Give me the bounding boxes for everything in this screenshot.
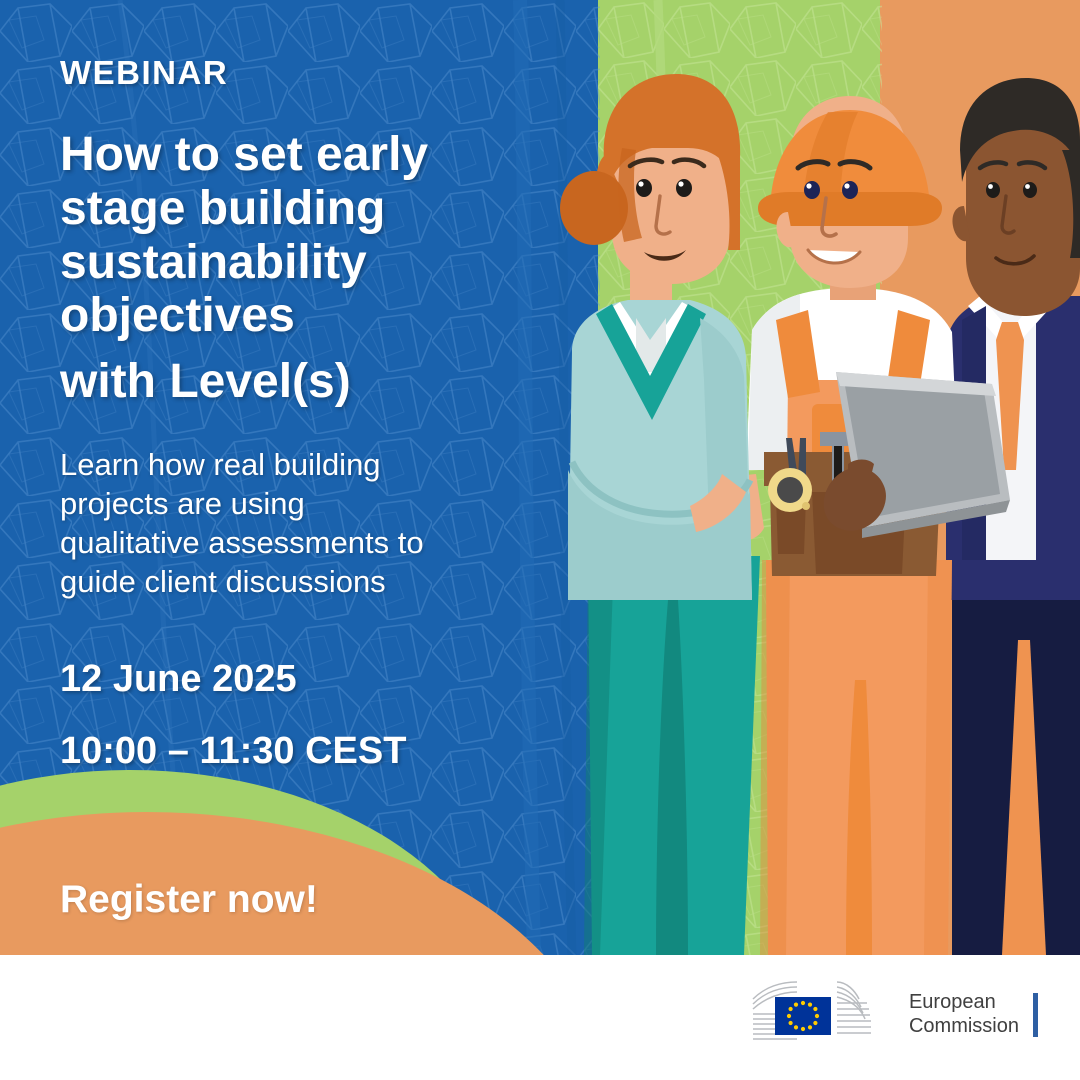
footer-bar: European Commission — [0, 955, 1080, 1080]
european-commission-logo: European Commission — [751, 975, 1038, 1055]
organisation-name: European Commission — [909, 991, 1019, 1038]
title-line: sustainability — [60, 236, 570, 290]
kicker-label: WEBINAR — [60, 54, 228, 92]
eu-emblem-icon — [751, 979, 901, 1051]
poster-artwork: WEBINAR How to set early stage building … — [0, 0, 1080, 955]
subtitle-line: Learn how real building — [60, 445, 560, 484]
tablet-device — [824, 372, 1010, 538]
title-line: How to set early — [60, 128, 570, 182]
event-date: 12 June 2025 — [60, 658, 297, 701]
page-title: How to set early stage building sustaina… — [60, 128, 570, 409]
figure-woman-architect — [560, 74, 760, 955]
subtitle-line: projects are using — [60, 484, 560, 523]
register-now-cta[interactable]: Register now! — [60, 878, 318, 922]
subtitle-line: qualitative assessments to — [60, 523, 560, 562]
title-line: objectives — [60, 289, 570, 343]
subtitle: Learn how real building projects are usi… — [60, 445, 560, 601]
subtitle-line: guide client discussions — [60, 562, 560, 601]
logo-divider-bar — [1033, 993, 1038, 1037]
webinar-poster: WEBINAR How to set early stage building … — [0, 0, 1080, 1080]
event-time: 10:00 – 11:30 CEST — [60, 730, 406, 773]
title-line: stage building — [60, 182, 570, 236]
title-line: with Level(s) — [60, 355, 570, 409]
